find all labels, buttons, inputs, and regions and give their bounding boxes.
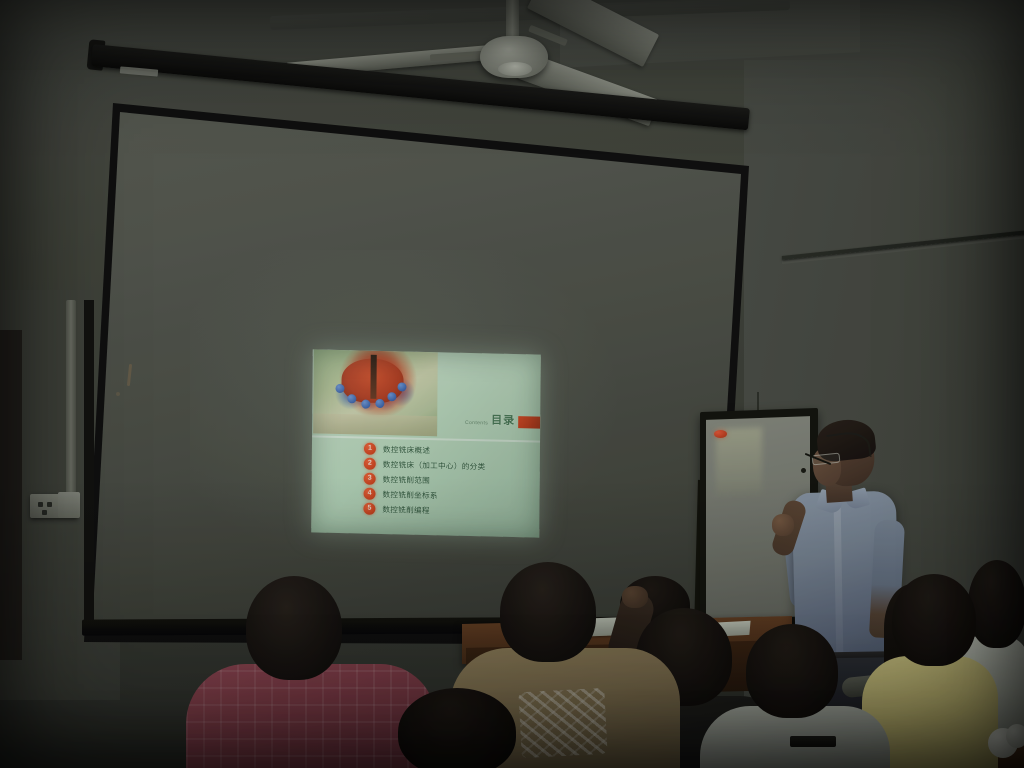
list-label: 数控铣床（加工中心）的分类: [383, 459, 486, 472]
slide-agenda-list: 1 数控铣床概述 2 数控铣床（加工中心）的分类 3 数控铣削范围 4 数控铣削…: [363, 443, 534, 519]
slide-title-group: Contents 目录: [465, 411, 540, 429]
student-body: [186, 664, 436, 768]
wall-speck: [116, 392, 120, 396]
socket-hole: [47, 502, 52, 507]
student-head: [968, 560, 1024, 648]
list-item: 5 数控铣削编程: [363, 503, 533, 519]
list-number: 3: [364, 473, 376, 485]
student-hand: [622, 586, 648, 608]
socket-hole: [38, 502, 43, 507]
list-label: 数控铣削范围: [383, 474, 430, 486]
slide-title-cn: 目录: [491, 411, 515, 428]
projected-slide: Contents 目录 1 数控铣床概述 2 数控铣床（加工中心）的分类 3 数…: [311, 349, 541, 537]
list-label: 数控铣削编程: [382, 504, 429, 516]
microphone-capsule-icon: [801, 468, 806, 473]
desk-object: [1006, 724, 1024, 748]
socket-hole: [42, 510, 47, 515]
list-item: 3 数控铣削范围: [364, 473, 534, 489]
list-number: 2: [364, 458, 376, 470]
ceiling-fan-rod: [506, 0, 519, 40]
classroom-photo: Contents 目录 1 数控铣床概述 2 数控铣床（加工中心）的分类 3 数…: [0, 0, 1024, 768]
list-number: 5: [363, 503, 375, 515]
tool-holder: [347, 394, 356, 403]
tool-holder: [387, 392, 396, 401]
tool-holder: [375, 399, 384, 408]
list-item: 4 数控铣削坐标系: [364, 488, 534, 504]
slide-accent-block: [518, 416, 540, 428]
left-door-panel: [0, 330, 22, 660]
list-label: 数控铣床概述: [383, 444, 430, 456]
student-head: [746, 624, 838, 718]
photo-foreground: [313, 413, 437, 436]
list-item: 2 数控铣床（加工中心）的分类: [364, 458, 534, 474]
list-item: 1 数控铣床概述: [364, 443, 534, 459]
student-head: [398, 688, 516, 768]
student-head: [892, 574, 976, 666]
shirt-graphic: [518, 688, 607, 758]
projection-screen-left-rail: [84, 300, 94, 635]
slide-photo: [313, 349, 438, 436]
tool-holder: [397, 382, 406, 391]
machine-spindle: [370, 355, 376, 399]
ceiling-fan-cap: [498, 62, 532, 76]
student-head: [500, 562, 596, 662]
light-switch[interactable]: [58, 492, 80, 518]
slide-header: Contents 目录: [438, 352, 541, 438]
list-number: 1: [364, 443, 376, 455]
presenter-hand: [772, 514, 794, 536]
wall-conduit: [66, 300, 76, 500]
student-head: [246, 576, 342, 680]
shirt-graphic: [790, 736, 836, 747]
tool-holder: [335, 384, 344, 393]
list-number: 4: [364, 488, 376, 500]
list-label: 数控铣削坐标系: [383, 489, 438, 501]
whiteboard-magnet[interactable]: [714, 430, 727, 438]
slide-title-en: Contents: [465, 420, 488, 427]
tool-holder: [361, 400, 370, 409]
